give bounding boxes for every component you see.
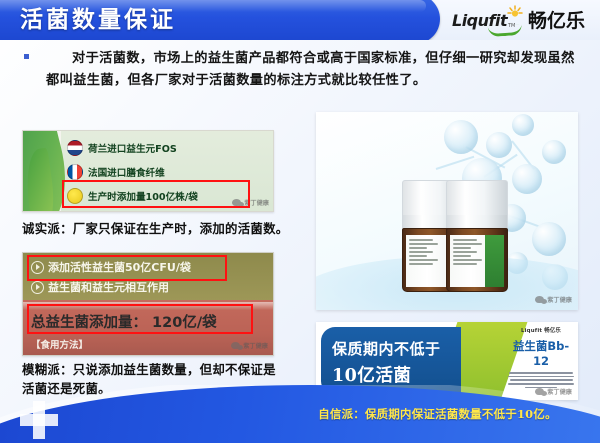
- product-bottles-image: 紫丁健康: [316, 112, 578, 310]
- wechat-icon: [535, 296, 544, 303]
- page-title: 活菌数量保证: [20, 4, 400, 36]
- bottle-body: [446, 228, 508, 292]
- label-row: 荷兰进口益生元FOS: [67, 137, 269, 159]
- watermark: 紫丁健康: [231, 341, 268, 350]
- footer-caption: 自信派：保质期内保证活菌数量不低于10亿。: [285, 406, 590, 422]
- body-paragraph: 对于活菌数，市场上的益生菌产品都符合或高于国家标准，但仔细一研究却发现虽然都叫益…: [24, 48, 580, 92]
- caption-honest: 诚实派：厂家只保证在生产时，添加的活菌数。: [22, 219, 322, 238]
- molecule-sphere: [444, 120, 478, 154]
- bottle-label-lines: [453, 239, 482, 267]
- vague-line-1: 添加活性益生菌50亿CFU/袋: [31, 259, 191, 275]
- plus-decoration-icon: [20, 401, 58, 439]
- label-row-text: 法国进口膳食纤维: [88, 165, 165, 179]
- vague-total-text: 总益生菌添加量： 120亿/袋: [31, 311, 217, 332]
- play-circle-icon: [31, 281, 44, 294]
- molecule-sphere: [486, 132, 512, 158]
- watermark-text: 紫丁健康: [244, 198, 269, 207]
- brand-logo: Liqufit TM 畅亿乐: [452, 6, 594, 36]
- wechat-icon: [232, 199, 241, 206]
- wechat-icon: [231, 342, 240, 349]
- bottle-label: [450, 235, 504, 287]
- bottle-cap: [446, 180, 508, 215]
- brand-name-en: Liqufit: [452, 11, 507, 30]
- label-shine: [23, 302, 273, 310]
- vague-line-1-text: 添加活性益生菌50亿CFU/袋: [48, 259, 191, 275]
- yellow-badge-icon: [67, 188, 83, 204]
- sun-burst-icon: [507, 5, 523, 21]
- vague-line-2: 益生菌和益生元相互作用: [31, 279, 169, 295]
- label-row-text: 生产时添加量100亿株/袋: [88, 189, 198, 203]
- bottle-neck: [446, 215, 508, 228]
- callout-line-2: 10亿活菌: [332, 362, 472, 387]
- slide-header: 活菌数量保证 Liqufit TM 畅亿乐: [0, 0, 600, 40]
- france-flag-icon: [67, 164, 83, 180]
- honest-product-label-image: 荷兰进口益生元FOS 法国进口膳食纤维 生产时添加量100亿株/袋 紫丁健康: [22, 130, 274, 212]
- vague-product-label-image: 添加活性益生菌50亿CFU/袋 益生菌和益生元相互作用 总益生菌添加量： 120…: [22, 252, 274, 356]
- callout-text: 保质期内不低于 10亿活菌: [332, 338, 472, 387]
- molecule-sphere: [542, 140, 566, 164]
- bottle-label-green-strip: [485, 235, 504, 287]
- callout-line-1: 保质期内不低于: [332, 338, 472, 359]
- slide-canvas: 活菌数量保证 Liqufit TM 畅亿乐 对于活菌数，市场上的益生菌产品都符合…: [0, 0, 600, 443]
- watermark: 紫丁健康: [232, 198, 269, 207]
- watermark-text: 紫丁健康: [243, 341, 268, 350]
- callout-product-name: 益生菌Bb-12: [506, 338, 576, 368]
- brand-name-cn: 畅亿乐: [528, 6, 585, 33]
- label-row: 法国进口膳食纤维: [67, 161, 269, 183]
- play-circle-icon: [31, 261, 44, 274]
- callout-product-panel: Liqufit 畅亿乐 益生菌Bb-12: [506, 326, 576, 390]
- label-row-text: 荷兰进口益生元FOS: [88, 141, 177, 155]
- bullet-marker: [24, 54, 29, 59]
- molecule-sphere: [532, 222, 566, 256]
- callout-brand-logo: Liqufit 畅亿乐: [506, 326, 576, 334]
- product-bottle-right: [446, 180, 508, 292]
- vague-line-2-text: 益生菌和益生元相互作用: [48, 279, 169, 295]
- bottle-label-lines: [409, 239, 438, 267]
- paragraph-text: 对于活菌数，市场上的益生菌产品都符合或高于国家标准，但仔细一研究却发现虽然都叫益…: [46, 48, 580, 92]
- netherlands-flag-icon: [67, 140, 83, 156]
- brand-trademark: TM: [508, 23, 515, 29]
- vague-footnote: 【食用方法】: [31, 337, 88, 351]
- watermark: 紫丁健康: [535, 295, 572, 304]
- molecule-sphere: [512, 164, 542, 194]
- watermark-text: 紫丁健康: [547, 295, 572, 304]
- molecule-sphere: [512, 114, 534, 136]
